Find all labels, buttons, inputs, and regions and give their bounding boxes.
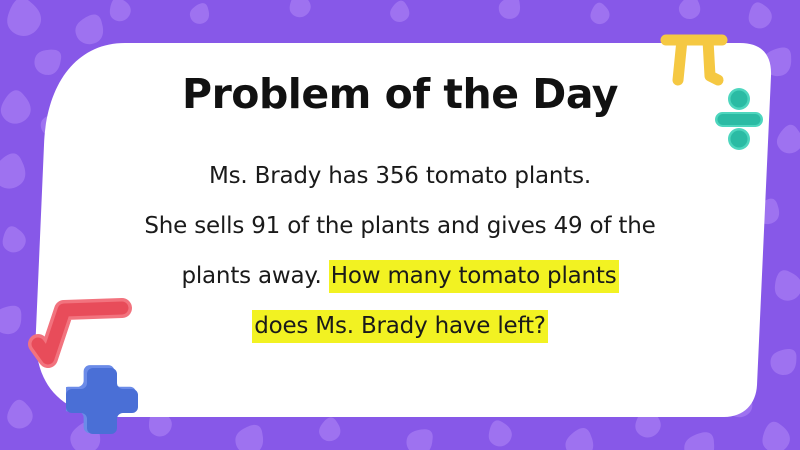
card-shape bbox=[36, 43, 771, 417]
pi-symbol-icon bbox=[652, 22, 736, 94]
division-symbol-icon bbox=[712, 88, 766, 150]
plus-symbol-icon bbox=[66, 362, 138, 434]
slide-canvas: Problem of the Day Ms. Brady has 356 tom… bbox=[0, 0, 800, 450]
